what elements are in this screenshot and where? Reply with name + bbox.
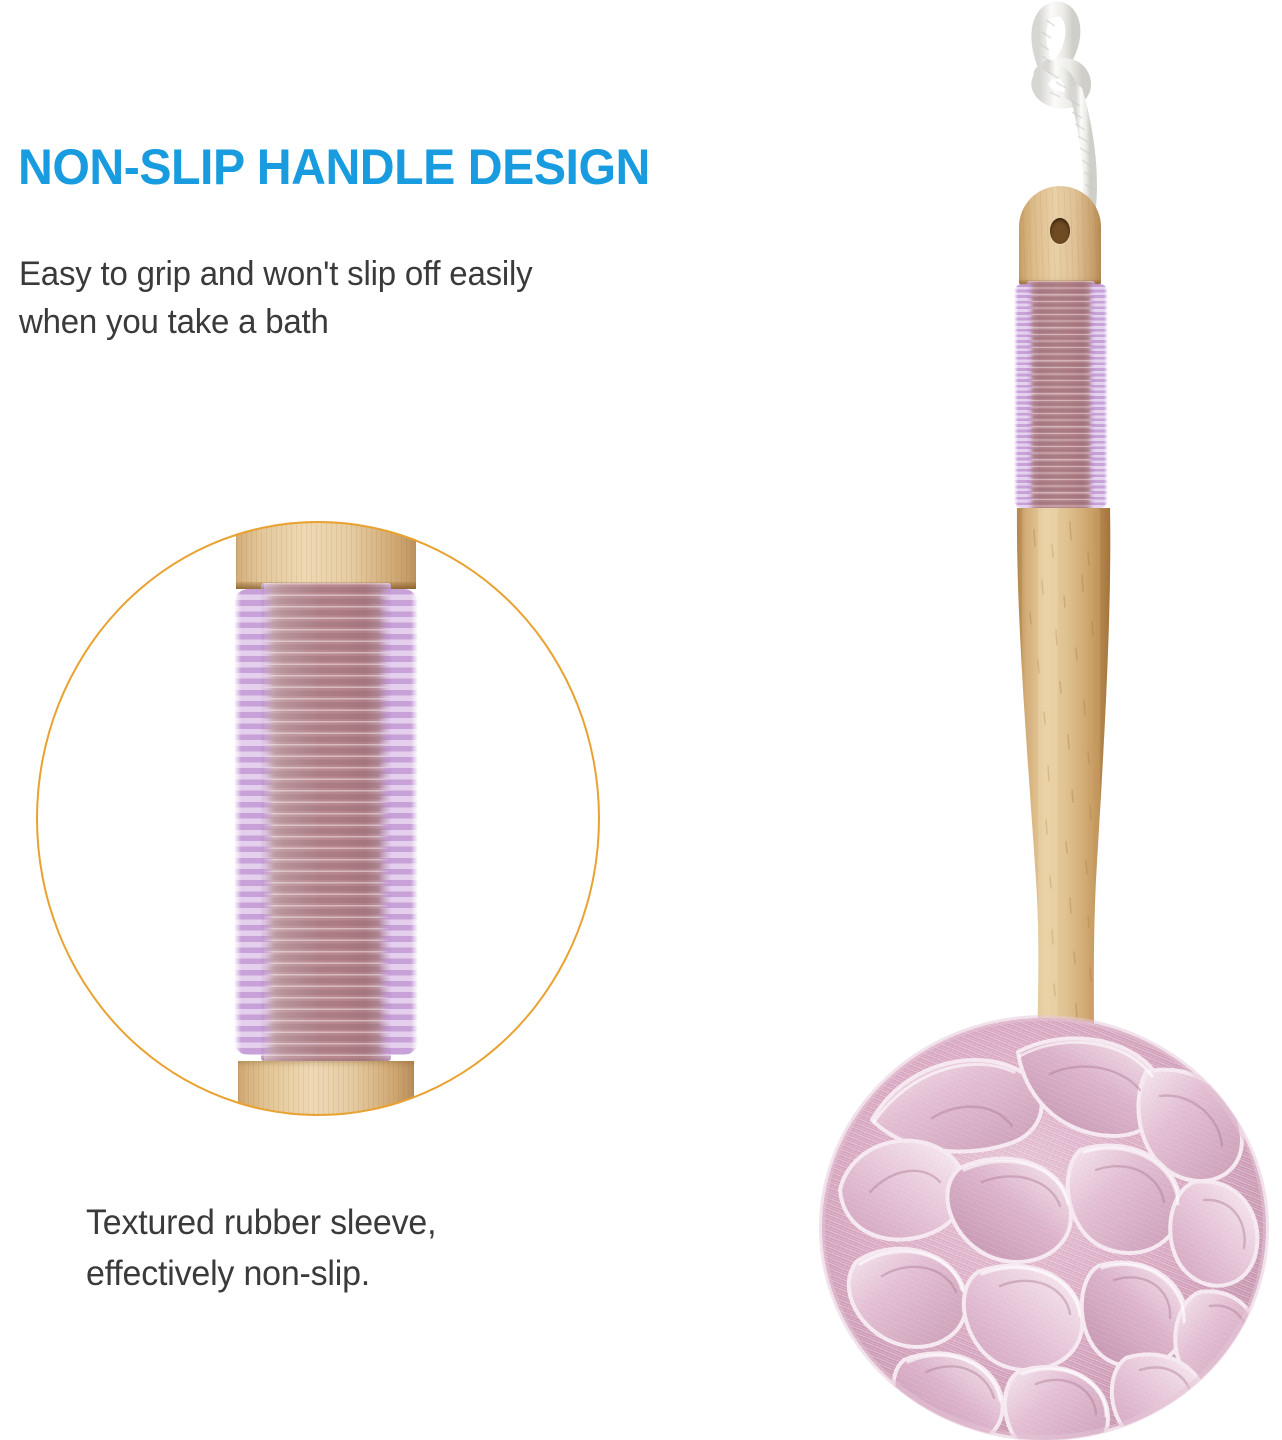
hanging-hole bbox=[1050, 218, 1070, 244]
loofah-puff bbox=[812, 1000, 1282, 1440]
product-illustration bbox=[0, 0, 1282, 1440]
marketing-image-canvas: NON-SLIP HANDLE DESIGN Easy to grip and … bbox=[0, 0, 1282, 1440]
